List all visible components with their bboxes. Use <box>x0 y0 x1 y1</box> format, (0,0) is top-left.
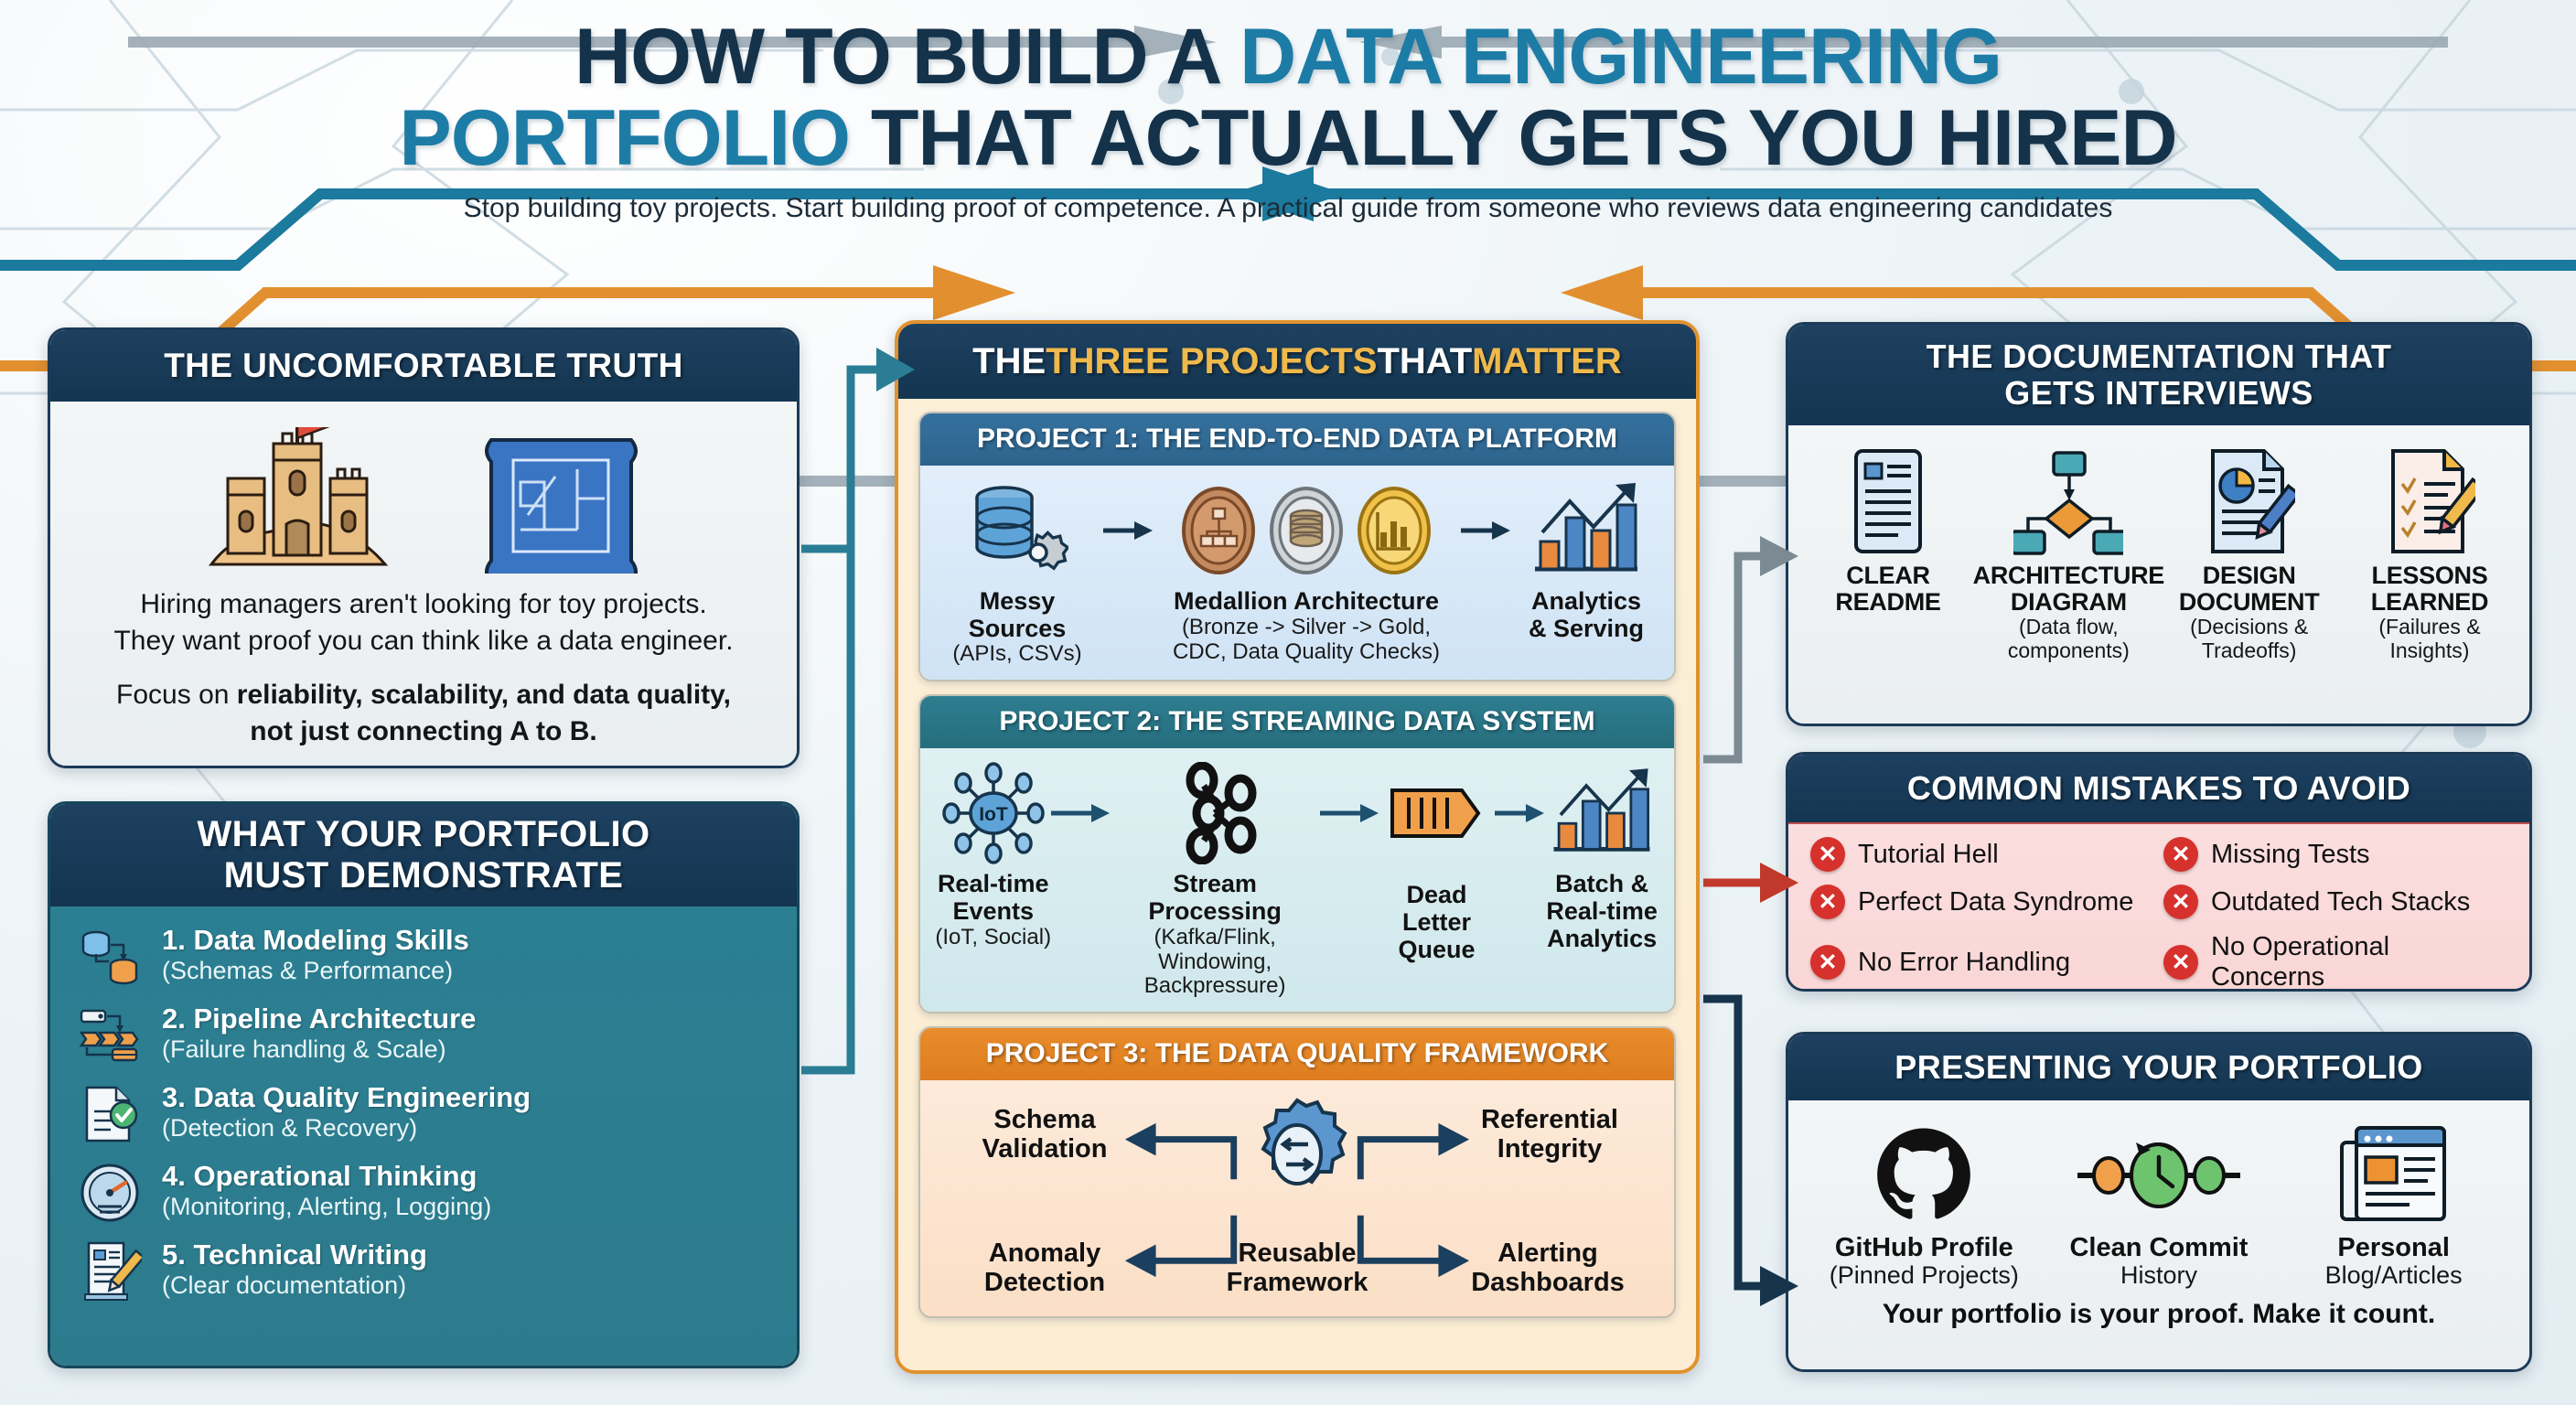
documentation-items: CLEAR README ARCHITECTURE DIAGRAM <box>1805 444 2513 662</box>
presenting-items: GitHub Profile (Pinned Projects) Clean <box>1807 1117 2511 1290</box>
arrow-icon <box>1495 759 1544 867</box>
demonstrate-heading-line-2: MUST DEMONSTRATE <box>224 855 624 896</box>
common-mistakes-body: ✕Tutorial Hell ✕Missing Tests ✕Perfect D… <box>1788 822 2529 992</box>
project-2-flow: IoT Real-time Events (IoT, Social) <box>935 759 1659 999</box>
documentation-item: CLEAR README <box>1805 444 1971 616</box>
presenting-item: Personal Blog/Articles <box>2280 1117 2508 1290</box>
project-1-step-sub: (Bronze -> Silver -> Gold, CDC, Data Qua… <box>1173 616 1440 665</box>
uncomfortable-truth-icons <box>78 418 769 574</box>
mistake-label: Tutorial Hell <box>1858 840 1999 870</box>
bar-chart-growth-icon <box>1547 759 1657 867</box>
demonstrate-item-title: 2. Pipeline Architecture <box>162 1003 476 1035</box>
truth-line-2: They want proof you can think like a dat… <box>78 623 769 660</box>
demonstrate-item-title: 1. Data Modeling Skills <box>162 925 469 957</box>
medallion-icons-group <box>1179 477 1433 585</box>
project-1-step-title: Analytics & Serving <box>1529 588 1644 642</box>
database-gear-icon <box>966 477 1068 585</box>
mistake-label: No Operational Concerns <box>2211 932 2507 992</box>
project-1-step-title: Messy Sources <box>935 588 1100 642</box>
mistake-item: ✕No Operational Concerns <box>2163 932 2507 992</box>
github-icon <box>1873 1117 1975 1234</box>
project-3-label-schema-validation: Schema Validation <box>953 1106 1136 1164</box>
documentation-item-title: CLEAR README <box>1835 563 1940 616</box>
uncomfortable-truth-body: Hiring managers aren't looking for toy p… <box>50 402 797 768</box>
documentation-item: ARCHITECTURE DIAGRAM (Data flow, compone… <box>1985 444 2152 662</box>
mistake-item: ✕Outdated Tech Stacks <box>2163 885 2507 919</box>
mistake-label: Outdated Tech Stacks <box>2211 887 2470 917</box>
project-2-step-title: Batch & Real-time Analytics <box>1546 871 1658 952</box>
x-mark-icon: ✕ <box>2163 885 2198 919</box>
mistake-label: Missing Tests <box>2211 840 2370 870</box>
documentation-item-sub: (Data flow, components) <box>2008 616 2130 662</box>
project-3-quadrant-grid: Schema Validation Referential Integrity … <box>935 1091 1659 1303</box>
truth-focus-prefix: Focus on <box>116 680 237 710</box>
pipeline-flow-icon <box>76 1002 144 1069</box>
project-3-body: Schema Validation Referential Integrity … <box>920 1080 1674 1316</box>
blueprint-icon <box>477 427 646 574</box>
demonstrate-item: 1. Data Modeling Skills (Schemas & Perfo… <box>76 923 773 991</box>
documentation-card: THE DOCUMENTATION THAT GETS INTERVIEWS <box>1786 322 2532 726</box>
gauge-icon <box>76 1159 144 1227</box>
sandcastle-icon <box>202 427 394 574</box>
project-2-card: PROJECT 2: THE STREAMING DATA SYSTEM <box>918 694 1676 1014</box>
mistake-label: Perfect Data Syndrome <box>1858 887 2133 917</box>
commit-history-clock-icon <box>2072 1117 2246 1234</box>
readme-document-icon <box>1845 444 1931 555</box>
title-part-accent-2: PORTFOLIO <box>399 94 850 182</box>
arrow-icon <box>1461 477 1510 585</box>
three-projects-heading: THE THREE PROJECTS THAT MATTER <box>898 324 1696 399</box>
demonstrate-heading-line-1: WHAT YOUR PORTFOLIO <box>198 814 650 855</box>
demonstrate-item-sub: (Schemas & Performance) <box>162 957 469 985</box>
presenting-portfolio-heading: PRESENTING YOUR PORTFOLIO <box>1788 1035 2529 1100</box>
page-title-line-1: HOW TO BUILD A DATA ENGINEERING <box>0 16 2576 98</box>
bar-chart-growth-icon <box>1528 477 1645 585</box>
common-mistakes-grid: ✕Tutorial Hell ✕Missing Tests ✕Perfect D… <box>1810 837 2507 992</box>
documentation-item: DESIGN DOCUMENT (Decisions & Tradeoffs) <box>2166 444 2333 662</box>
truth-line-1: Hiring managers aren't looking for toy p… <box>78 586 769 623</box>
uncomfortable-truth-heading: THE UNCOMFORTABLE TRUTH <box>50 330 797 402</box>
gear-exchange-icon <box>1240 1093 1355 1213</box>
presenting-portfolio-body: GitHub Profile (Pinned Projects) Clean <box>1788 1100 2529 1372</box>
x-mark-icon: ✕ <box>2163 837 2198 872</box>
documentation-body: CLEAR README ARCHITECTURE DIAGRAM <box>1788 425 2529 726</box>
truth-focus-bold-1: reliability, scalability, and data quali… <box>237 680 731 710</box>
project-3-label-referential-integrity: Referential Integrity <box>1458 1106 1641 1164</box>
presenting-item-sub: (Pinned Projects) <box>1830 1262 2019 1290</box>
x-mark-icon: ✕ <box>1810 885 1845 919</box>
uncomfortable-truth-text: Hiring managers aren't looking for toy p… <box>78 586 769 659</box>
common-mistakes-heading: COMMON MISTAKES TO AVOID <box>1788 755 2529 822</box>
arrow-icon <box>1103 477 1153 585</box>
project-1-body: Messy Sources (APIs, CSVs) <box>920 466 1674 680</box>
project-1-flow: Messy Sources (APIs, CSVs) <box>935 477 1659 667</box>
project-2-heading: PROJECT 2: THE STREAMING DATA SYSTEM <box>920 696 1674 748</box>
project-1-step-title: Medallion Architecture <box>1174 588 1439 616</box>
presenting-footer-tagline: Your portfolio is your proof. Make it co… <box>1807 1299 2511 1330</box>
gold-medal-icon <box>1355 485 1433 576</box>
title-part-plain: HOW TO BUILD A <box>574 13 1240 101</box>
portfolio-demonstrate-heading: WHAT YOUR PORTFOLIO MUST DEMONSTRATE <box>50 804 797 906</box>
document-check-icon <box>76 1080 144 1148</box>
demonstrate-item-sub: (Detection & Recovery) <box>162 1114 531 1142</box>
documentation-heading-line-2: GETS INTERVIEWS <box>2004 375 2313 412</box>
project-3-label-alerting-dashboards: Alerting Dashboards <box>1447 1239 1648 1298</box>
queue-icon <box>1389 759 1486 867</box>
documentation-item-title: DESIGN DOCUMENT <box>2179 563 2320 616</box>
project-3-heading: PROJECT 3: THE DATA QUALITY FRAMEWORK <box>920 1028 1674 1080</box>
documentation-item: LESSONS LEARNED (Failures & Insights) <box>2346 444 2513 662</box>
project-2-step-title: Real-time Events <box>938 871 1049 925</box>
mistake-label: No Error Handling <box>1858 948 2070 978</box>
presenting-item-title: Personal <box>2337 1234 2450 1262</box>
x-mark-icon: ✕ <box>1810 945 1845 980</box>
presenting-item-title: GitHub Profile <box>1835 1234 2013 1262</box>
three-projects-card: THE THREE PROJECTS THAT MATTER PROJECT 1… <box>895 320 1700 1374</box>
demonstrate-item-sub: (Clear documentation) <box>162 1271 427 1300</box>
presenting-item-title: Clean Commit <box>2069 1234 2248 1262</box>
project-3-label-anomaly-detection: Anomaly Detection <box>953 1239 1136 1298</box>
x-mark-icon: ✕ <box>1810 837 1845 872</box>
design-doc-pencil-icon <box>2204 444 2295 555</box>
mistake-item: ✕Perfect Data Syndrome <box>1810 885 2154 919</box>
bronze-medal-icon <box>1179 485 1258 576</box>
documentation-heading-line-1: THE DOCUMENTATION THAT <box>1927 338 2392 375</box>
page-subtitle: Stop building toy projects. Start buildi… <box>0 193 2576 224</box>
presenting-item: GitHub Profile (Pinned Projects) <box>1809 1117 2038 1290</box>
documentation-heading: THE DOCUMENTATION THAT GETS INTERVIEWS <box>1788 325 2529 425</box>
document-pencil-icon <box>76 1238 144 1305</box>
demonstrate-item: 2. Pipeline Architecture (Failure handli… <box>76 1002 773 1069</box>
project-2-body: IoT Real-time Events (IoT, Social) <box>920 748 1674 1012</box>
demonstrate-item-sub: (Failure handling & Scale) <box>162 1035 476 1064</box>
demonstrate-item-title: 5. Technical Writing <box>162 1239 427 1271</box>
common-mistakes-card: COMMON MISTAKES TO AVOID ✕Tutorial Hell … <box>1786 752 2532 992</box>
x-mark-icon: ✕ <box>2163 945 2198 980</box>
project-3-center-label: Reusable Framework <box>1178 1239 1416 1298</box>
checklist-pencil-icon <box>2384 444 2475 555</box>
documentation-item-title: LESSONS LEARNED <box>2371 563 2488 616</box>
project-1-step-sub: (APIs, CSVs) <box>952 642 1081 667</box>
page-header: HOW TO BUILD A DATA ENGINEERING PORTFOLI… <box>0 16 2576 224</box>
presenting-item-sub: History <box>2120 1262 2197 1290</box>
title-part-accent: DATA ENGINEERING <box>1240 13 2002 101</box>
uncomfortable-truth-card: THE UNCOMFORTABLE TRUTH <box>48 327 800 768</box>
demonstrate-item: 5. Technical Writing (Clear documentatio… <box>76 1238 773 1305</box>
iot-hub-icon: IoT <box>939 759 1048 867</box>
truth-focus-bold-2: not just connecting A to B. <box>250 716 596 746</box>
page-title-line-2: PORTFOLIO THAT ACTUALLY GETS YOU HIRED <box>0 98 2576 179</box>
project-2-step-sub: (IoT, Social) <box>935 926 1051 950</box>
arrow-icon <box>1320 759 1379 867</box>
demonstrate-item: 4. Operational Thinking (Monitoring, Ale… <box>76 1159 773 1227</box>
presenting-portfolio-card: PRESENTING YOUR PORTFOLIO GitHub Profile… <box>1786 1032 2532 1372</box>
project-1-card: PROJECT 1: THE END-TO-END DATA PLATFORM <box>918 412 1676 681</box>
demonstrate-item-sub: (Monitoring, Alerting, Logging) <box>162 1193 491 1221</box>
center-heading-a: THE <box>972 341 1046 382</box>
title-part-plain-2: THAT ACTUALLY GETS YOU HIRED <box>850 94 2177 182</box>
demonstrate-item-title: 3. Data Quality Engineering <box>162 1082 531 1114</box>
project-3-card: PROJECT 3: THE DATA QUALITY FRAMEWORK <box>918 1026 1676 1318</box>
svg-text:IoT: IoT <box>979 804 1008 825</box>
portfolio-demonstrate-body: 1. Data Modeling Skills (Schemas & Perfo… <box>50 906 797 1368</box>
demonstrate-item: 3. Data Quality Engineering (Detection &… <box>76 1080 773 1148</box>
center-heading-d: MATTER <box>1472 341 1622 382</box>
project-2-step-sub: (Kafka/Flink, Windowing, Backpressure) <box>1110 926 1319 1000</box>
mistake-item: ✕Tutorial Hell <box>1810 837 2154 872</box>
documentation-item-title: ARCHITECTURE DIAGRAM <box>1973 563 2164 616</box>
presenting-item: Clean Commit History <box>2045 1117 2273 1290</box>
database-transform-icon <box>76 923 144 991</box>
project-2-step-title: Dead Letter Queue <box>1379 882 1495 963</box>
center-heading-c: THAT <box>1377 341 1472 382</box>
kafka-nodes-icon <box>1165 759 1264 867</box>
documentation-item-sub: (Decisions & Tradeoffs) <box>2190 616 2308 662</box>
project-2-step-title: Stream Processing <box>1110 871 1319 925</box>
blog-window-icon <box>2336 1117 2452 1234</box>
presenting-item-sub: Blog/Articles <box>2325 1262 2463 1290</box>
demonstrate-item-title: 4. Operational Thinking <box>162 1161 491 1193</box>
mistake-item: ✕No Error Handling <box>1810 932 2154 992</box>
silver-medal-icon <box>1267 485 1346 576</box>
portfolio-demonstrate-card: WHAT YOUR PORTFOLIO MUST DEMONSTRATE 1. … <box>48 801 800 1368</box>
mistake-item: ✕Missing Tests <box>2163 837 2507 872</box>
documentation-item-sub: (Failures & Insights) <box>2378 616 2480 662</box>
flowchart-icon <box>2013 444 2123 555</box>
arrow-icon <box>1051 759 1110 867</box>
center-heading-b: THREE PROJECTS <box>1046 341 1377 382</box>
uncomfortable-truth-focus: Focus on reliability, scalability, and d… <box>78 677 769 749</box>
project-1-heading: PROJECT 1: THE END-TO-END DATA PLATFORM <box>920 413 1674 466</box>
